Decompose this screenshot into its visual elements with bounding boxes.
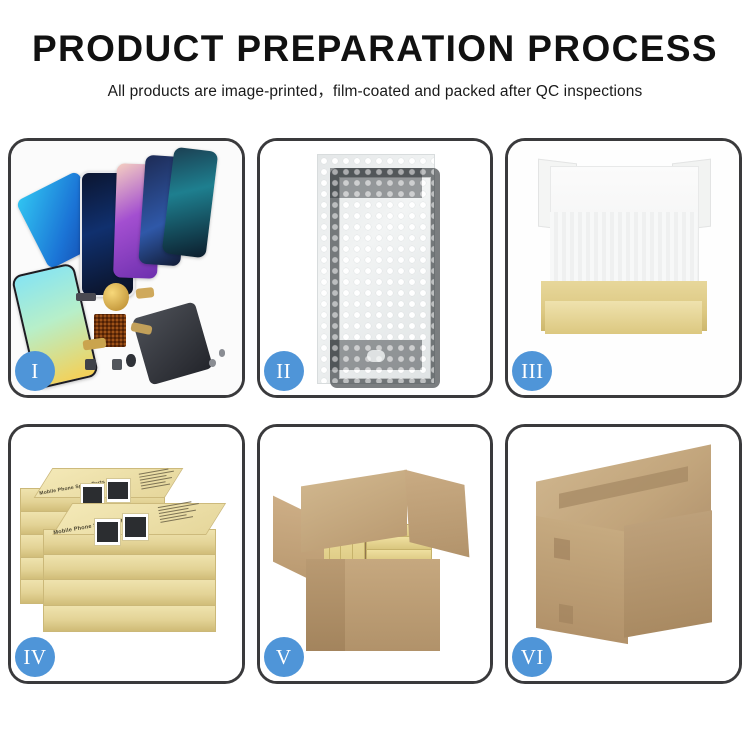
part-flex-cable-3 bbox=[135, 287, 154, 299]
stacked-box-front-3 bbox=[43, 579, 216, 606]
kraft-box-front bbox=[545, 301, 702, 334]
box-thumb-front-1 bbox=[94, 518, 121, 545]
box-thumb-front-2 bbox=[122, 513, 149, 540]
bubble-wrap-sheet bbox=[317, 154, 434, 385]
step-badge-5: V bbox=[264, 637, 304, 677]
part-flex-cable-1 bbox=[82, 338, 106, 351]
part-chip-2 bbox=[85, 359, 97, 369]
part-chip-4 bbox=[126, 354, 135, 367]
sealed-carton-tab-lower bbox=[559, 604, 573, 624]
part-screw-2 bbox=[219, 349, 226, 357]
step-badge-4: IV bbox=[15, 637, 55, 677]
process-step-panel-2[interactable]: II bbox=[257, 138, 494, 398]
part-gold-coil bbox=[103, 283, 128, 311]
sealed-carton-left-face bbox=[536, 515, 628, 643]
sealed-carton-right-face bbox=[624, 511, 712, 638]
process-step-panel-4[interactable]: Mobile Phone Spare Parts Mobile Phone Sp… bbox=[8, 424, 245, 684]
process-step-grid: I II bbox=[8, 138, 742, 684]
step-badge-2: II bbox=[264, 351, 304, 391]
foam-insert-middle bbox=[550, 212, 698, 283]
part-back-plate bbox=[132, 301, 213, 385]
process-step-panel-3[interactable]: III bbox=[505, 138, 742, 398]
process-step-panel-1[interactable]: I bbox=[8, 138, 245, 398]
sealed-carton-tab-upper bbox=[554, 537, 570, 560]
process-step-panel-6[interactable]: VI bbox=[505, 424, 742, 684]
carton-body-side bbox=[306, 559, 345, 650]
page-subtitle: All products are image-printed，film-coat… bbox=[0, 79, 750, 101]
part-chip-1 bbox=[76, 293, 97, 301]
stacked-box-front-2 bbox=[43, 554, 216, 581]
step-badge-1: I bbox=[15, 351, 55, 391]
stacked-box-front-4 bbox=[43, 605, 216, 632]
process-step-panel-5[interactable]: V bbox=[257, 424, 494, 684]
part-screw-1 bbox=[209, 359, 216, 367]
part-chip-3 bbox=[112, 359, 121, 369]
box-thumb-rear-2 bbox=[106, 478, 131, 503]
page-title: PRODUCT PREPARATION PROCESS bbox=[0, 30, 750, 69]
bubble-wrap-overlay bbox=[318, 155, 433, 384]
page-header: PRODUCT PREPARATION PROCESS All products… bbox=[0, 0, 750, 101]
